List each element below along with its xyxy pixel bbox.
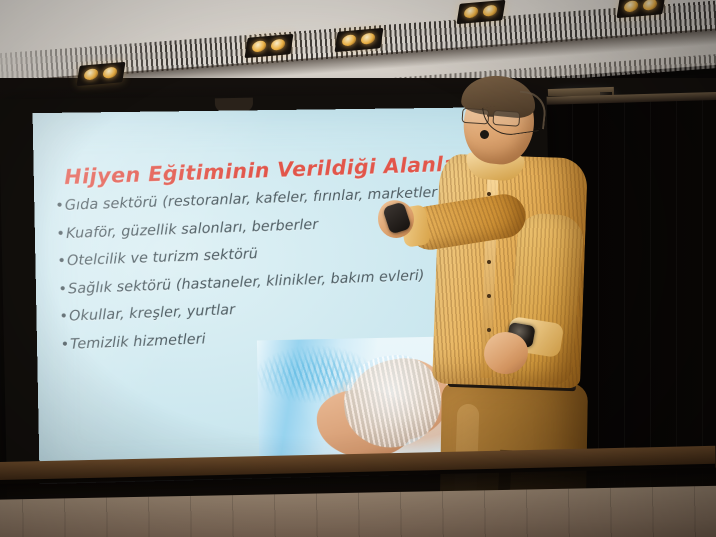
bullet-text: Kuaför, güzellik salonları, berberler bbox=[66, 216, 319, 241]
ceiling-spotlight-icon-2 bbox=[244, 34, 293, 58]
bullet-marker: • bbox=[55, 198, 64, 214]
bullet-text: Otelcilik ve turizm sektörü bbox=[67, 246, 259, 269]
ceiling-spotlight-icon-1 bbox=[76, 62, 125, 86]
bullet-marker: • bbox=[58, 281, 67, 297]
presentation-scene: Hijyen Eğitiminin Verildiği Alanlar •Gıd… bbox=[0, 0, 716, 537]
shirt-button bbox=[487, 294, 491, 298]
ceiling-spotlight-icon-3 bbox=[334, 28, 383, 52]
bullet-marker: • bbox=[59, 308, 68, 324]
bullet-text: Sağlık sektörü (hastaneler, klinikler, b… bbox=[68, 267, 425, 297]
shirt-button bbox=[487, 328, 491, 332]
headset-microphone-capsule bbox=[480, 130, 489, 139]
bullet-text: Temizlik hizmetleri bbox=[70, 331, 206, 352]
bullet-marker: • bbox=[60, 336, 69, 352]
shirt-button bbox=[487, 260, 491, 264]
bullet-text: Okullar, kreşler, yurtlar bbox=[69, 302, 236, 325]
bullet-marker: • bbox=[57, 253, 66, 269]
bullet-marker: • bbox=[56, 225, 65, 241]
